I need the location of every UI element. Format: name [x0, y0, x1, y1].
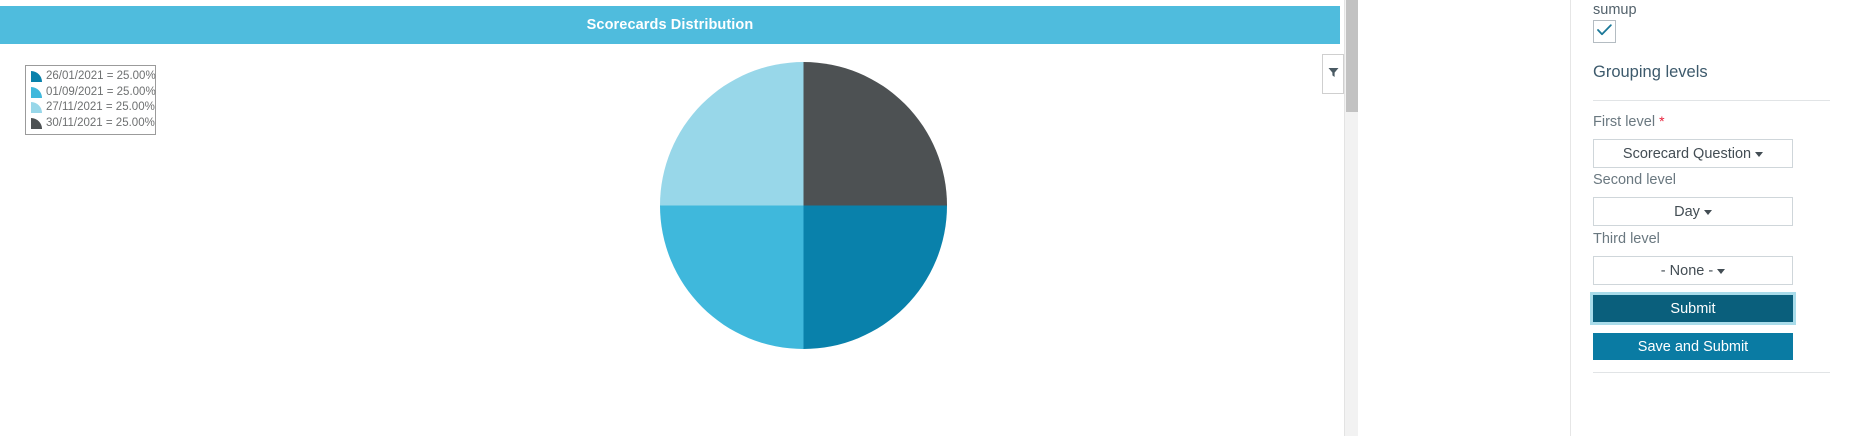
legend-item[interactable]: 27/11/2021 = 25.00%: [30, 100, 149, 116]
first-level-select-value: Scorecard Question: [1623, 146, 1751, 162]
pie-slice-30-11-2021[interactable]: [804, 62, 948, 206]
first-level-select[interactable]: Scorecard Question: [1593, 139, 1793, 168]
legend-swatch-icon: [30, 70, 43, 83]
third-level-select-value: - None -: [1661, 263, 1713, 279]
sumup-label: sumup: [1593, 1, 1637, 19]
vertical-scrollbar[interactable]: [1344, 0, 1358, 436]
third-level-select[interactable]: - None -: [1593, 256, 1793, 285]
pie-chart: [660, 62, 947, 349]
legend-swatch-icon: [30, 117, 43, 130]
checkmark-icon: [1597, 23, 1612, 41]
legend-swatch-icon: [30, 86, 43, 99]
second-level-label: Second level: [1593, 172, 1676, 188]
filter-toggle-tab[interactable]: [1322, 54, 1344, 94]
grouping-sidebar-inner: sumup Grouping levels First level * Scor…: [1593, 0, 1829, 436]
legend-item-label: 30/11/2021 = 25.00%: [46, 116, 155, 132]
grouping-sidebar: sumup Grouping levels First level * Scor…: [1570, 0, 1851, 436]
chart-legend: 26/01/2021 = 25.00% 01/09/2021 = 25.00% …: [25, 65, 156, 135]
pie-slice-01-09-2021[interactable]: [660, 206, 804, 350]
third-level-label: Third level: [1593, 231, 1660, 247]
pie-slice-26-01-2021[interactable]: [804, 206, 948, 350]
pie-chart-svg: [660, 62, 947, 349]
chevron-down-icon: [1717, 269, 1725, 274]
app-root: Scorecards Distribution 26/01/2021 = 25.…: [0, 0, 1851, 436]
legend-item[interactable]: 26/01/2021 = 25.00%: [30, 69, 149, 85]
chevron-down-icon: [1704, 210, 1712, 215]
legend-item-label: 26/01/2021 = 25.00%: [46, 69, 156, 85]
third-level-label-text: Third level: [1593, 231, 1660, 247]
submit-button-label: Submit: [1670, 301, 1715, 317]
chart-header-bar: Scorecards Distribution: [0, 6, 1340, 44]
chevron-down-icon: [1755, 152, 1763, 157]
legend-item[interactable]: 30/11/2021 = 25.00%: [30, 116, 149, 132]
save-and-submit-button-label: Save and Submit: [1638, 339, 1748, 355]
vertical-scrollbar-thumb[interactable]: [1346, 0, 1358, 112]
section-divider: [1593, 372, 1830, 373]
first-level-label: First level *: [1593, 113, 1665, 130]
grouping-levels-heading: Grouping levels: [1593, 63, 1708, 82]
save-and-submit-button[interactable]: Save and Submit: [1593, 333, 1793, 360]
legend-item[interactable]: 01/09/2021 = 25.00%: [30, 85, 149, 101]
page-title: Scorecards Distribution: [587, 17, 754, 33]
legend-item-label: 01/09/2021 = 25.00%: [46, 85, 156, 101]
section-divider: [1593, 100, 1830, 101]
required-indicator: *: [1659, 113, 1664, 129]
sumup-checkbox[interactable]: [1593, 20, 1616, 43]
legend-item-label: 27/11/2021 = 25.00%: [46, 100, 155, 116]
submit-button[interactable]: Submit: [1593, 295, 1793, 322]
legend-swatch-icon: [30, 101, 43, 114]
second-level-select[interactable]: Day: [1593, 197, 1793, 226]
chart-panel: Scorecards Distribution 26/01/2021 = 25.…: [0, 0, 1340, 436]
pie-slice-27-11-2021[interactable]: [660, 62, 804, 206]
second-level-label-text: Second level: [1593, 172, 1676, 188]
filter-icon: [1328, 65, 1339, 83]
second-level-select-value: Day: [1674, 204, 1700, 220]
first-level-label-text: First level: [1593, 114, 1655, 130]
